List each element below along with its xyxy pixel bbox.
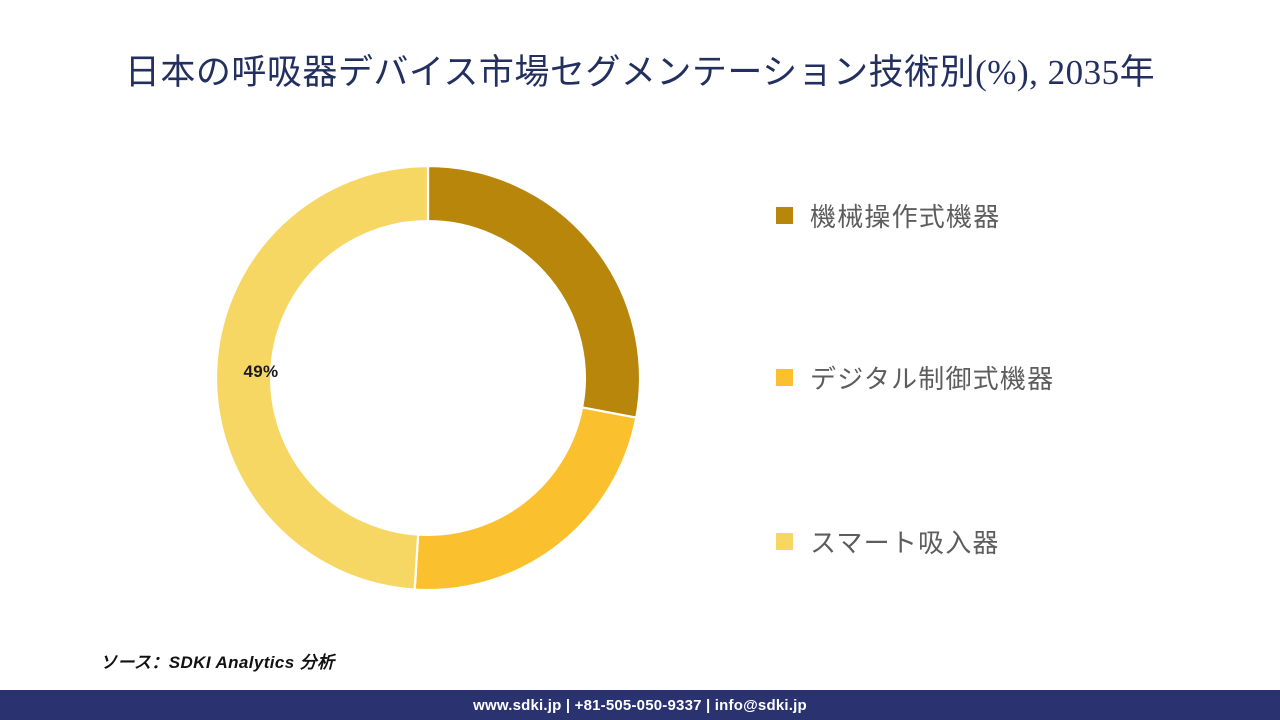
legend-label-smart-inhaler: スマート吸入器 [810,523,1000,560]
legend-label-digital-control-devices: デジタル制御式機器 [810,359,1054,396]
donut-slice[interactable] [415,407,637,590]
chart-legend: 機械操作式機器 デジタル制御式機器 スマート吸入器 [776,180,1206,600]
page-title: 日本の呼吸器デバイス市場セグメンテーション技術別(%), 2035年 [95,50,1185,96]
legend-item-mechanical-devices[interactable]: 機械操作式機器 [776,192,1000,238]
legend-item-smart-inhaler[interactable]: スマート吸入器 [776,518,1000,564]
legend-label-mechanical-devices: 機械操作式機器 [810,197,1000,234]
source-note: ソース：SDKI Analytics 分析 [100,648,335,673]
footer-contact-text: www.sdki.jp | +81-505-050-9337 | info@sd… [473,697,807,714]
legend-swatch-icon-digital-control-devices [776,369,793,386]
donut-data-label-smart-inhaler: 49% [218,362,304,382]
donut-slice[interactable] [428,166,640,418]
footer-bar: www.sdki.jp | +81-505-050-9337 | info@sd… [0,690,1280,720]
legend-item-digital-control-devices[interactable]: デジタル制御式機器 [776,354,1054,400]
legend-swatch-icon-smart-inhaler [776,533,793,550]
donut-chart: 49% [216,166,640,590]
legend-swatch-icon-mechanical-devices [776,207,793,224]
slide-canvas: 日本の呼吸器デバイス市場セグメンテーション技術別(%), 2035年 49% 機… [0,0,1280,720]
